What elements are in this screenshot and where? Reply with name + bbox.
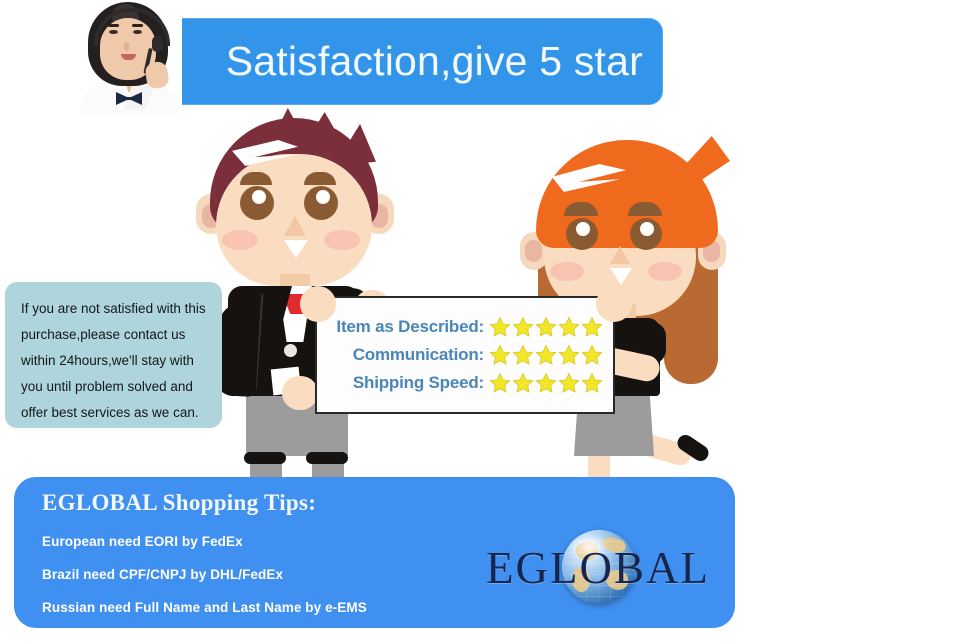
woman-eye-highlight-right [640,222,654,236]
shopping-tip-item: Brazil need CPF/CNPJ by DHL/FedEx [42,567,367,582]
rating-stars [489,316,603,338]
star-icon [558,316,580,338]
satisfaction-note-box: If you are not satisfied with this purch… [5,282,222,428]
man-eyebrow-right [304,172,336,185]
man-hand-on-sign [300,286,336,322]
star-icon [489,316,511,338]
rating-label: Item as Described: [336,317,484,337]
star-icon [581,372,603,394]
star-icon [535,372,557,394]
star-icon [581,344,603,366]
star-icon [558,372,580,394]
star-icon [535,344,557,366]
promo-banner-page: Satisfaction,give 5 star [0,0,954,644]
man-arm-left [216,303,261,397]
man-hand-lower [282,376,318,410]
star-icon [512,344,534,366]
woman-ear-inner-left [525,240,542,262]
ratings-sign-board: Item as Described:Communication:Shipping… [315,296,615,414]
man-cheek-right [324,230,360,250]
shopping-tips-list: European need EORI by FedExBrazil need C… [42,534,367,615]
shopping-tip-item: Russian need Full Name and Last Name by … [42,600,367,615]
ratings-list: Item as Described:Communication:Shipping… [317,298,613,412]
woman-hand-on-sign [596,286,632,322]
star-icon [535,316,557,338]
man-eye-highlight-left [252,190,266,204]
star-icon [581,316,603,338]
banner-headline: Satisfaction,give 5 star [150,18,663,105]
rating-label: Shipping Speed: [353,373,484,393]
star-icon [489,372,511,394]
eglobal-logo: EGLOBAL [480,528,716,606]
shopping-tips-title: EGLOBAL Shopping Tips: [42,490,316,516]
rating-row: Communication: [325,342,603,368]
woman-cheek-right [648,262,682,281]
rating-stars [489,344,603,366]
rating-row: Shipping Speed: [325,370,603,396]
woman-cheek-left [550,262,584,281]
headset-earpiece-icon [152,36,163,52]
star-icon [489,344,511,366]
man-eye-highlight-right [316,190,330,204]
rating-label: Communication: [353,345,484,365]
man-eyebrow-left [240,172,272,185]
shopping-tip-item: European need EORI by FedEx [42,534,367,549]
customer-service-rep-photo [74,0,182,115]
star-icon [558,344,580,366]
star-icon [512,316,534,338]
woman-hair-top [536,140,718,248]
rating-stars [489,372,603,394]
woman-eye-highlight-left [576,222,590,236]
rating-row: Item as Described: [325,314,603,340]
man-shoe-right [306,452,348,464]
man-shoe-left [244,452,286,464]
satisfaction-banner: Satisfaction,give 5 star [150,18,663,105]
eglobal-wordmark: EGLOBAL [480,542,716,594]
satisfaction-note-text: If you are not satisfied with this purch… [21,296,208,426]
man-cheek-left [222,230,258,250]
star-icon [512,372,534,394]
man-jacket-button [284,344,297,357]
